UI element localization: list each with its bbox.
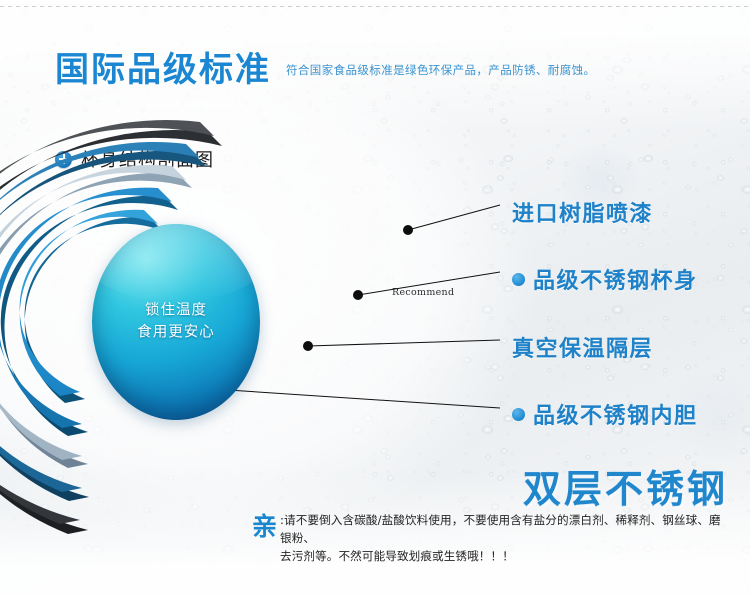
big-claim-text: 双层不锈钢 (523, 458, 728, 513)
footer-warning: 亲 :请不要倒入含碳酸/盐酸饮料使用，不要使用含有盐分的漂白剂、稀释剂、钢丝球、… (252, 512, 732, 566)
callout-label: 品级不锈钢内胆 (533, 398, 698, 430)
callout-label: 真空保温隔层 (512, 331, 653, 363)
highlight-globe: 锁住温度 食用更安心 (92, 224, 260, 420)
footer-prefix: 亲 (252, 514, 277, 539)
globe-caption: 锁住温度 食用更安心 (92, 300, 260, 345)
footer-note-line1: 请不要倒入含碳酸/盐酸饮料使用，不要使用含有盐分的漂白剂、稀释剂、钢丝球、磨银粉… (280, 513, 721, 545)
cup-cross-section-diagram: 锁住温度 食用更安心 (0, 100, 520, 570)
callout-steel-body: 品级不锈钢杯身 (512, 263, 698, 295)
callout-label: 品级不锈钢杯身 (533, 263, 698, 295)
leader-lines (228, 205, 500, 408)
callout-label: 进口树脂喷漆 (512, 196, 653, 228)
globe-caption-line1: 锁住温度 (92, 300, 260, 322)
cross-section-svg (0, 100, 520, 570)
footer-note-line2: 去污剂等。不然可能导致划痕或生锈哦！！！ (280, 549, 514, 563)
poster-canvas: 国际品级标准 符合国家食品级标准是绿色环保产品，产品防锈、耐腐蚀。 杯身结构剖面… (0, 0, 750, 595)
top-dashed-divider (0, 6, 750, 7)
footer-note: :请不要倒入含碳酸/盐酸饮料使用，不要使用含有盐分的漂白剂、稀释剂、钢丝球、磨银… (280, 512, 732, 566)
callout-steel-liner: 品级不锈钢内胆 (512, 398, 698, 430)
bullet-dot-icon (512, 273, 525, 286)
recommend-tag: Recommend (392, 287, 454, 298)
bullet-dot-icon (512, 408, 525, 421)
page-title: 国际品级标准 (55, 42, 271, 91)
callout-resin-paint: 进口树脂喷漆 (512, 196, 653, 228)
page-subtitle: 符合国家食品级标准是绿色环保产品，产品防锈、耐腐蚀。 (286, 62, 595, 78)
globe-caption-line2: 食用更安心 (92, 322, 260, 344)
callout-vacuum-layer: 真空保温隔层 (512, 331, 653, 363)
